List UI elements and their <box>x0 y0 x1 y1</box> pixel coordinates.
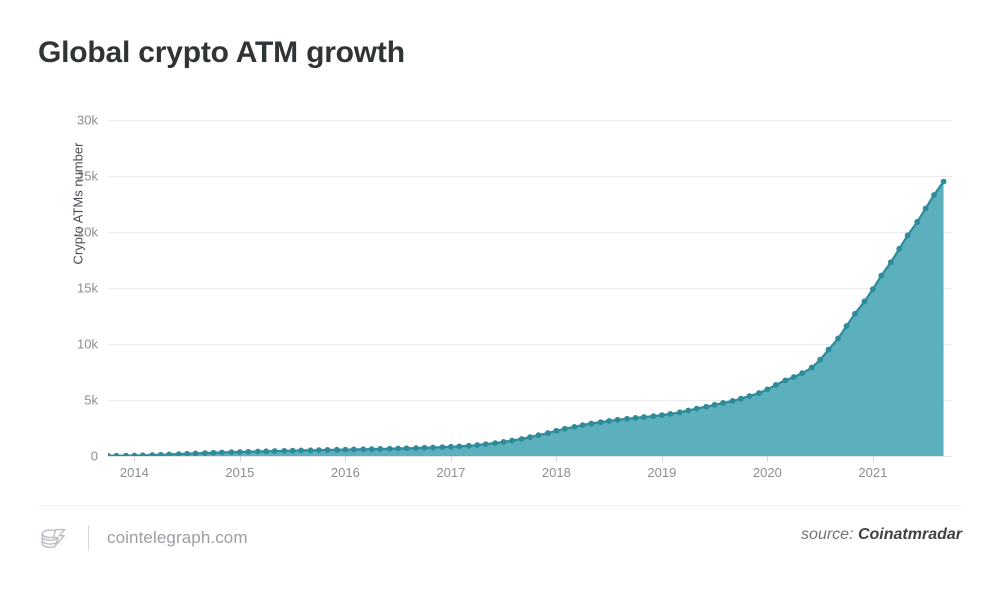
data-point-marker <box>791 374 797 380</box>
data-point-marker <box>527 434 533 440</box>
data-point-marker <box>862 299 868 305</box>
y-axis-tick: 15k <box>77 281 98 296</box>
data-point-marker <box>298 448 304 454</box>
data-point-marker <box>888 259 894 265</box>
x-axis-tick-mark <box>240 456 241 462</box>
data-point-marker <box>598 419 604 425</box>
data-point-marker <box>237 449 243 455</box>
data-point-marker <box>878 273 884 279</box>
data-point-marker <box>817 357 823 363</box>
y-axis-tick: 10k <box>77 337 98 352</box>
data-point-marker <box>492 440 498 446</box>
x-axis-tick-mark <box>556 456 557 462</box>
data-point-marker <box>536 432 542 438</box>
area-fill-path <box>108 182 944 456</box>
data-point-marker <box>712 402 718 408</box>
data-point-marker <box>395 446 401 452</box>
data-point-marker <box>413 445 419 451</box>
data-point-marker <box>747 393 753 399</box>
data-point-marker <box>615 417 621 423</box>
data-point-marker <box>387 446 393 452</box>
data-point-marker <box>844 323 850 329</box>
data-point-marker <box>624 416 630 422</box>
data-point-marker <box>694 406 700 412</box>
data-point-marker <box>501 439 507 445</box>
data-point-marker <box>562 426 568 432</box>
data-point-marker <box>263 448 269 454</box>
source-prefix: source: <box>801 526 853 543</box>
data-point-marker <box>685 408 691 414</box>
y-axis-tick: 25k <box>77 169 98 184</box>
data-point-marker <box>588 421 594 427</box>
data-point-marker <box>835 336 841 342</box>
coin-stack-lightning-icon <box>38 523 68 553</box>
data-point-marker <box>941 179 947 185</box>
data-point-marker <box>571 424 577 430</box>
x-axis-tick-mark <box>873 456 874 462</box>
data-point-marker <box>633 415 639 421</box>
data-point-marker <box>641 414 647 420</box>
data-point-marker <box>914 219 920 225</box>
data-point-marker <box>325 447 331 453</box>
data-point-marker <box>219 450 225 456</box>
data-point-marker <box>923 206 929 212</box>
data-point-marker <box>466 443 472 449</box>
x-axis-tick-mark <box>767 456 768 462</box>
data-point-marker <box>422 445 428 451</box>
page-title: Global crypto ATM growth <box>38 36 405 70</box>
data-point-marker <box>255 449 261 455</box>
data-point-marker <box>677 409 683 415</box>
chart-card: Global crypto ATM growth Crypto ATMs num… <box>0 0 1000 589</box>
data-point-marker <box>764 386 770 392</box>
data-point-marker <box>580 422 586 428</box>
data-point-marker <box>519 436 525 442</box>
y-axis-tick-labels: 05k10k15k20k25k30k <box>52 120 98 456</box>
x-axis-tick: 2015 <box>225 465 254 480</box>
x-axis-tick: 2017 <box>436 465 465 480</box>
data-point-marker <box>509 438 515 444</box>
source-attribution: source: Coinatmradar <box>801 526 962 544</box>
data-point-marker <box>553 428 559 434</box>
x-axis-tick: 2020 <box>753 465 782 480</box>
data-point-marker <box>334 447 340 453</box>
y-axis-tick: 20k <box>77 225 98 240</box>
data-point-marker <box>773 382 779 388</box>
data-point-marker <box>659 412 665 418</box>
data-point-marker <box>870 286 876 292</box>
x-axis-tick-mark <box>451 456 452 462</box>
brand-divider <box>88 525 89 551</box>
data-point-marker <box>667 411 673 417</box>
data-point-marker <box>545 430 551 436</box>
data-point-marker <box>430 445 436 451</box>
data-point-marker <box>360 446 366 452</box>
data-point-marker <box>896 246 902 252</box>
data-point-marker <box>720 400 726 406</box>
data-point-marker <box>651 413 657 419</box>
data-point-marker <box>245 449 251 455</box>
data-point-marker <box>606 418 612 424</box>
data-point-marker <box>809 365 815 371</box>
data-point-marker <box>440 444 446 450</box>
data-point-marker <box>404 445 410 451</box>
footer: cointelegraph.com source: Coinatmradar <box>38 518 962 562</box>
y-axis-tick: 0 <box>91 449 98 464</box>
data-point-marker <box>308 447 314 453</box>
plot-area <box>108 120 952 456</box>
x-axis-tick: 2016 <box>331 465 360 480</box>
x-axis-tick: 2014 <box>120 465 149 480</box>
data-point-marker <box>782 378 788 384</box>
data-point-marker <box>931 192 937 198</box>
data-point-marker <box>369 446 375 452</box>
data-point-marker <box>272 448 278 454</box>
data-point-marker <box>229 449 235 455</box>
x-axis-tick: 2021 <box>858 465 887 480</box>
data-point-marker <box>211 450 217 456</box>
x-axis-tick: 2018 <box>542 465 571 480</box>
x-axis: 20142015201620172018201920202021 <box>108 456 952 488</box>
data-point-marker <box>342 447 348 453</box>
data-point-marker <box>448 444 454 450</box>
data-point-marker <box>281 448 287 454</box>
x-axis-tick-mark <box>345 456 346 462</box>
x-axis-tick-mark <box>134 456 135 462</box>
y-axis-tick: 5k <box>84 393 98 408</box>
data-point-marker <box>351 447 357 453</box>
data-point-marker <box>483 441 489 447</box>
data-point-marker <box>905 232 911 238</box>
data-point-marker <box>474 442 480 448</box>
y-axis-tick: 30k <box>77 113 98 128</box>
brand-block: cointelegraph.com <box>38 518 248 558</box>
data-point-marker <box>852 311 858 317</box>
area-chart-series <box>108 120 952 456</box>
data-point-marker <box>703 404 709 410</box>
data-point-marker <box>826 347 832 353</box>
source-name: Coinatmradar <box>858 526 962 543</box>
data-point-marker <box>730 398 736 404</box>
data-point-marker <box>316 447 322 453</box>
footer-divider <box>38 505 962 506</box>
data-point-marker <box>738 396 744 402</box>
brand-label: cointelegraph.com <box>107 528 248 548</box>
data-point-marker <box>456 443 462 449</box>
data-point-marker <box>756 390 762 396</box>
data-point-marker <box>377 446 383 452</box>
data-point-marker <box>290 448 296 454</box>
x-axis-tick: 2019 <box>647 465 676 480</box>
x-axis-tick-mark <box>662 456 663 462</box>
data-point-marker <box>799 370 805 376</box>
